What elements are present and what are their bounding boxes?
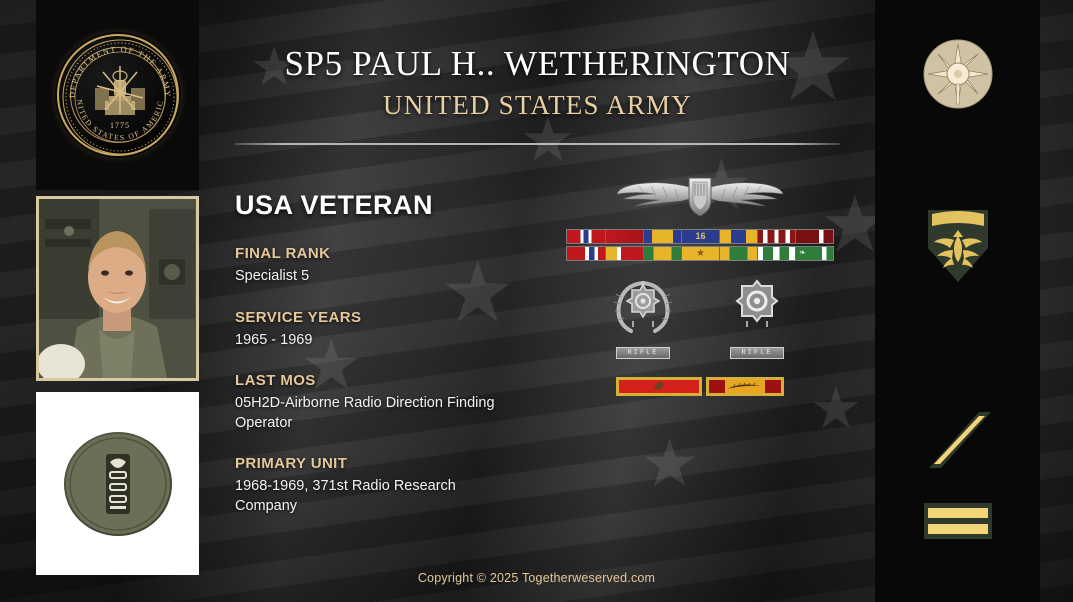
badge-clasp-label: RIFLE: [730, 347, 784, 359]
field-value: 1965 - 1969: [235, 331, 495, 351]
header-divider: [235, 143, 840, 145]
ribbon-14: ❧: [795, 247, 833, 260]
field-value: 1968-1969, 371st Radio Research Company: [235, 477, 495, 516]
field-label: LAST MOS: [235, 372, 495, 389]
aircrew-badge: [560, 170, 840, 227]
field-value: Specialist 5: [235, 267, 495, 287]
page-title-block: SP5 PAUL H.. WETHERINGTON UNITED STATES …: [235, 44, 840, 121]
ribbon-8: [567, 247, 605, 260]
copyright-text: Copyright © 2025: [418, 571, 522, 585]
field-value: 05H2D-Airborne Radio Direction Finding O…: [235, 394, 495, 433]
expert-marksmanship-badge: RIFLE: [609, 277, 677, 359]
ribbon-10: [643, 247, 681, 260]
branch-subtitle: UNITED STATES ARMY: [235, 90, 840, 121]
marksman-badge-icon: [723, 277, 791, 339]
badge-clasp-label: RIFLE: [616, 347, 670, 359]
ribbon-device-number: 16: [695, 232, 705, 241]
footer-copyright: Copyright © 2025 Togetherweserved.com: [0, 571, 1073, 585]
site-link[interactable]: Togetherweserved.com: [522, 571, 655, 585]
ribbon-3: [643, 230, 681, 243]
field-label: FINAL RANK: [235, 245, 495, 262]
field-last-mos: LAST MOS 05H2D-Airborne Radio Direction …: [235, 372, 495, 433]
ribbon-5: [719, 230, 757, 243]
ribbon-device-star-icon: ★: [696, 249, 705, 259]
aircrew-wings-icon: [615, 170, 785, 222]
unit-award-palm-icon: [725, 381, 765, 392]
marksmanship-badges: RIFLE RIFLE: [560, 277, 840, 359]
profile-details: USA VETERAN FINAL RANK Specialist 5 SERV…: [235, 190, 495, 516]
ribbon-device-palm-icon: ❧: [799, 249, 806, 257]
veteran-status-title: USA VETERAN: [235, 190, 495, 221]
ribbon-row-1: 16: [560, 229, 840, 244]
field-final-rank: FINAL RANK Specialist 5: [235, 245, 495, 287]
field-label: SERVICE YEARS: [235, 309, 495, 326]
profile-main: SP5 PAUL H.. WETHERINGTON UNITED STATES …: [0, 0, 1073, 602]
ribbon-2: [605, 230, 643, 243]
ribbon-4: 16: [681, 230, 719, 243]
expert-badge-icon: [609, 277, 677, 339]
marksman-marksmanship-badge: RIFLE: [723, 277, 791, 359]
ribbon-row-2: ★ ❧: [560, 246, 840, 261]
ribbon-group: 16: [566, 229, 834, 244]
awards-column: 16 ★ ❧: [560, 170, 840, 396]
unit-award-device-icon: [651, 380, 667, 393]
ribbon-7: [795, 230, 833, 243]
ribbon-13: [757, 247, 795, 260]
ribbon-12: [719, 247, 757, 260]
ribbon-9: [605, 247, 643, 260]
field-service-years: SERVICE YEARS 1965 - 1969: [235, 309, 495, 351]
ribbon-6: [757, 230, 795, 243]
unit-award-ribbon-1: [616, 377, 702, 396]
page-title: SP5 PAUL H.. WETHERINGTON: [235, 44, 840, 84]
ribbon-1: [567, 230, 605, 243]
ribbon-11: ★: [681, 247, 719, 260]
field-label: PRIMARY UNIT: [235, 455, 495, 472]
unit-award-ribbons: [560, 377, 840, 396]
field-primary-unit: PRIMARY UNIT 1968-1969, 371st Radio Rese…: [235, 455, 495, 516]
unit-award-ribbon-2: [706, 377, 784, 396]
ribbon-group: ★ ❧: [566, 246, 834, 261]
